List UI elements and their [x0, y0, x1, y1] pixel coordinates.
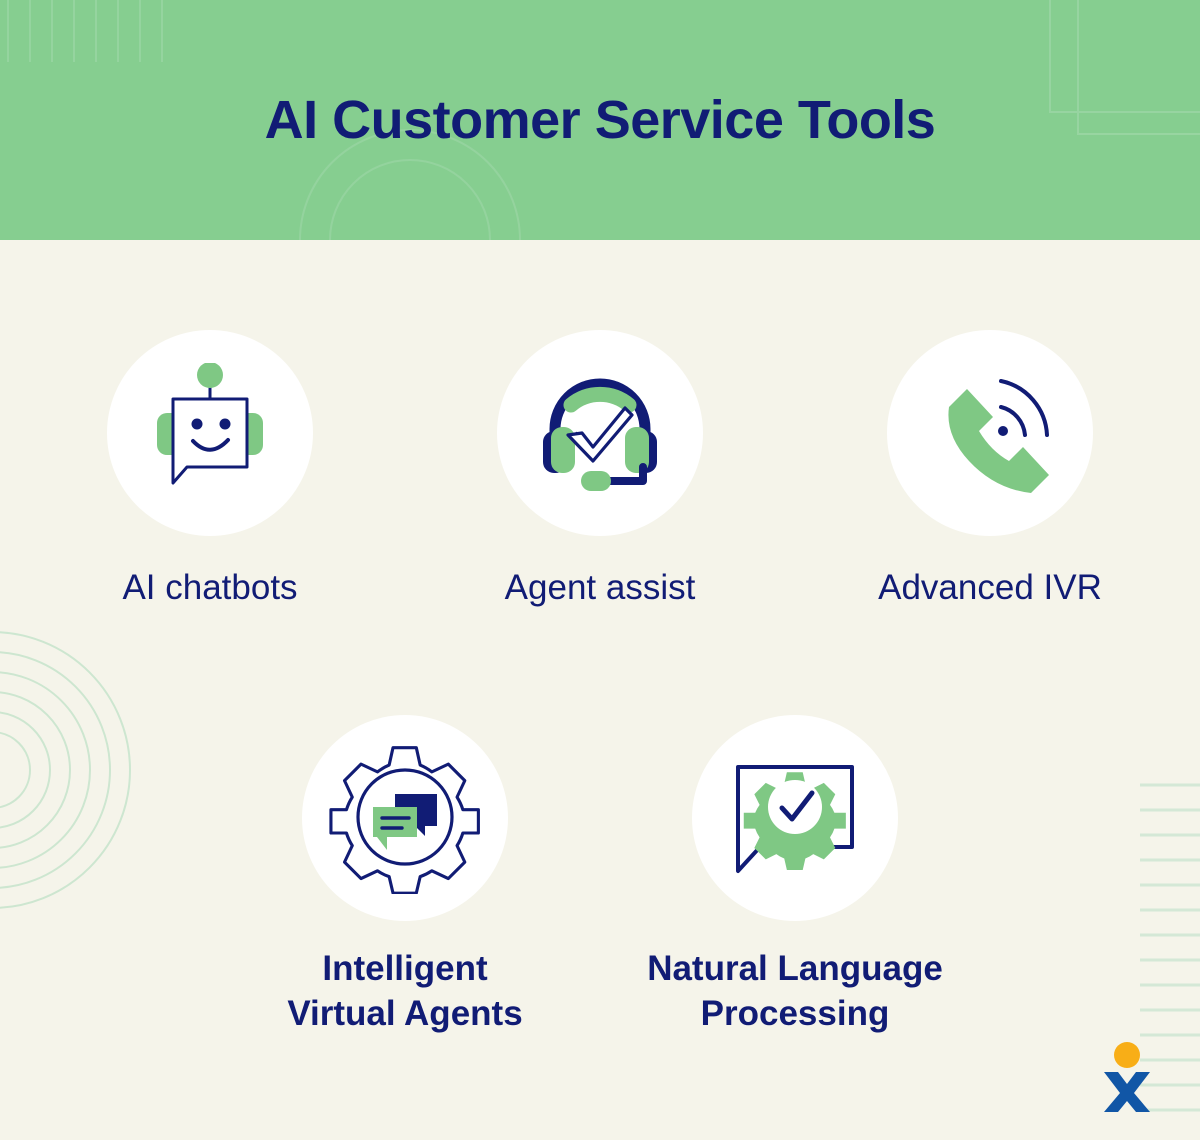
tool-label-intelligent-virtual-agents: Intelligent Virtual Agents [287, 947, 522, 1037]
tool-label-ai-chatbots: AI chatbots [122, 566, 297, 611]
robot-antenna-ball [197, 363, 223, 388]
tool-card-agent-assist[interactable]: Agent assist [405, 330, 795, 611]
robot-head-bubble [173, 399, 247, 483]
nlp-gear-center [768, 780, 822, 834]
robot-chatbot-icon [135, 363, 285, 503]
tool-label-agent-assist: Agent assist [505, 566, 696, 611]
robot-eye-right [220, 419, 231, 430]
icon-container-ai-chatbots [107, 330, 313, 536]
tool-card-natural-language-processing[interactable]: Natural Language Processing [600, 715, 990, 1037]
phone-signal-icon [915, 363, 1065, 503]
gear-chat-bubbles-icon [329, 742, 481, 894]
infographic-canvas: AI Customer Service Tools [0, 0, 1200, 1140]
tool-label-natural-language-processing: Natural Language Processing [647, 947, 943, 1037]
headset-band-highlight [571, 394, 629, 405]
signal-dot [998, 426, 1008, 436]
nextiva-logo[interactable] [1098, 1040, 1156, 1112]
tools-row-bottom: Intelligent Virtual Agents Natural Langu… [0, 715, 1200, 1037]
logo-dot [1114, 1042, 1140, 1068]
tool-card-intelligent-virtual-agents[interactable]: Intelligent Virtual Agents [210, 715, 600, 1037]
headset-mic-tip [581, 471, 611, 491]
icon-container-agent-assist [497, 330, 703, 536]
headset-checkmark-outline [568, 408, 632, 461]
header-banner: AI Customer Service Tools [0, 0, 1200, 240]
speech-bubble-gear-check-icon [720, 743, 870, 893]
headset-check-icon [525, 363, 675, 503]
tool-card-ai-chatbots[interactable]: AI chatbots [15, 330, 405, 611]
page-title: AI Customer Service Tools [0, 0, 1200, 240]
logo-x-mark [1104, 1072, 1150, 1112]
robot-eye-left [192, 419, 203, 430]
tool-label-advanced-ivr: Advanced IVR [878, 566, 1102, 611]
phone-handset [948, 389, 1049, 493]
icon-container-natural-language-processing [692, 715, 898, 921]
tools-row-top: AI chatbots [0, 330, 1200, 611]
icon-container-advanced-ivr [887, 330, 1093, 536]
icon-container-intelligent-virtual-agents [302, 715, 508, 921]
tool-card-advanced-ivr[interactable]: Advanced IVR [795, 330, 1185, 611]
